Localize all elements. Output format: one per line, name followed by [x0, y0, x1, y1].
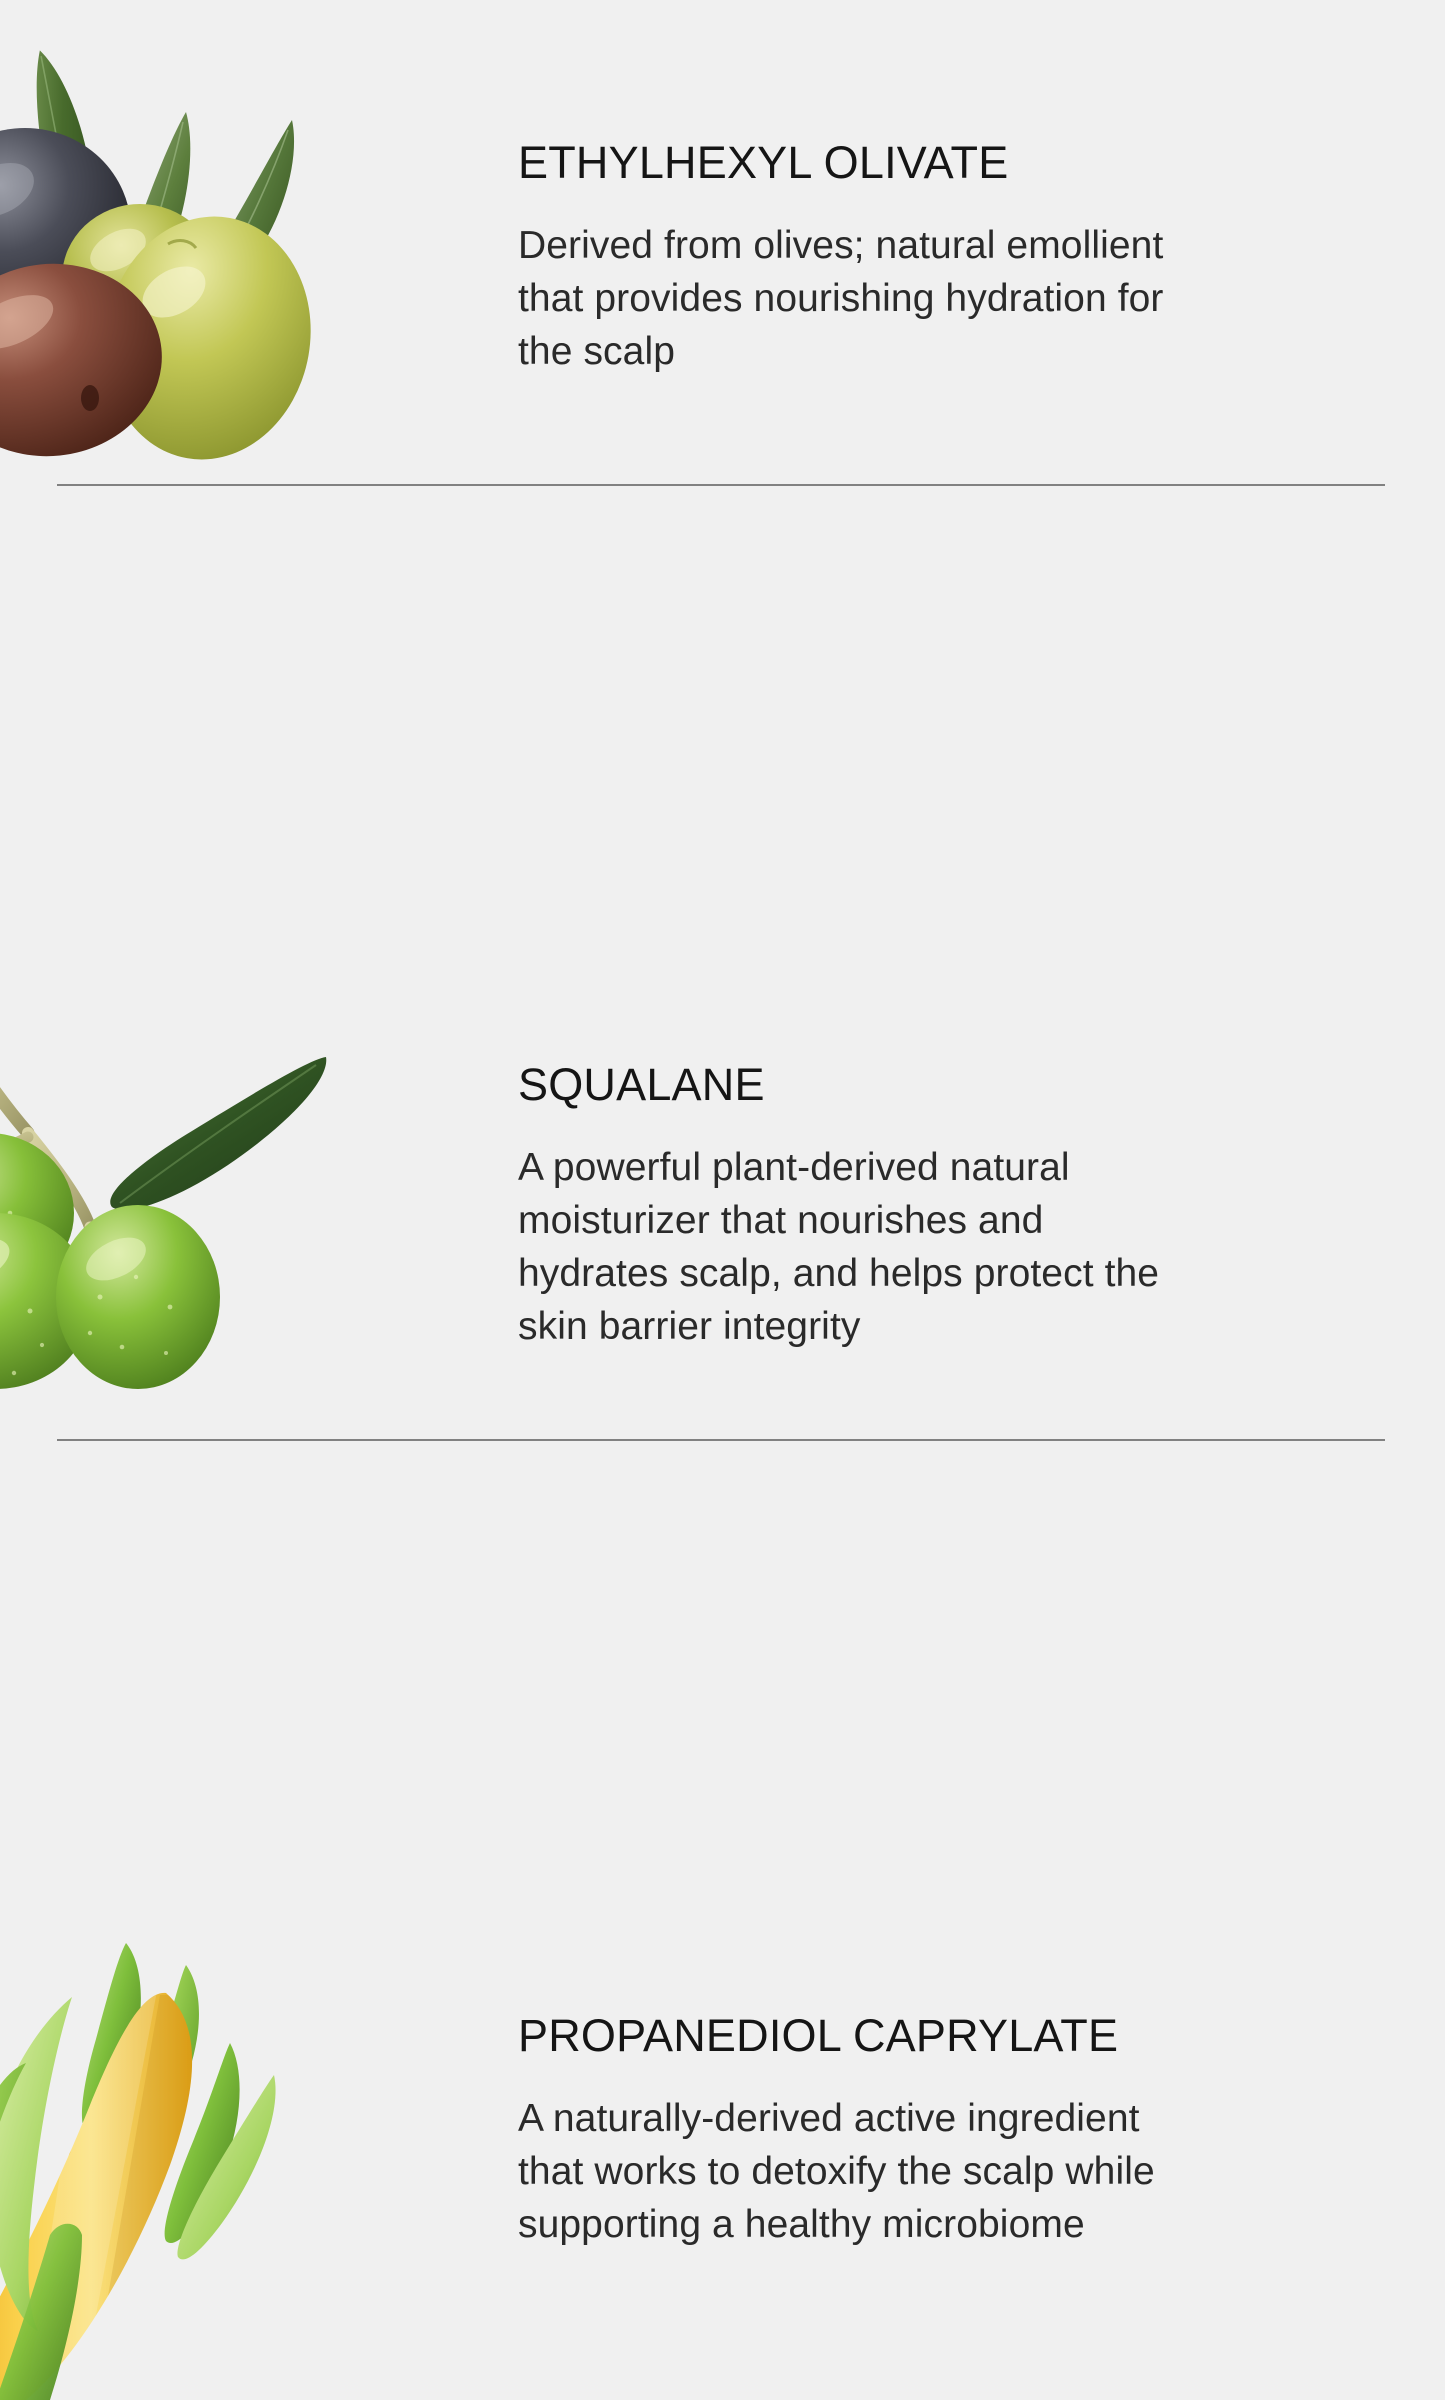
ingredient-section-ethylhexyl-olivate: ETHYLHEXYL OLIVATE Derived from olives; …: [0, 0, 1445, 486]
ingredient-text-block-1: ETHYLHEXYL OLIVATE Derived from olives; …: [518, 140, 1218, 378]
ingredient-heading-3: PROPANEDIOL CAPRYLATE: [518, 2013, 1218, 2058]
ingredient-description-1: Derived from olives; natural emollient t…: [518, 219, 1198, 378]
ingredient-section-propanediol-caprylate: PROPANEDIOL CAPRYLATE A naturally-derive…: [0, 955, 1445, 1445]
ingredient-section-squalane: SQUALANE A powerful plant-derived natura…: [0, 486, 1445, 955]
ingredient-text-block-3: PROPANEDIOL CAPRYLATE A naturally-derive…: [518, 2013, 1218, 2251]
ingredient-description-3: A naturally-derived active ingredient th…: [518, 2092, 1178, 2251]
ingredient-benefits-page: ETHYLHEXYL OLIVATE Derived from olives; …: [0, 0, 1445, 1445]
ingredient-heading-1: ETHYLHEXYL OLIVATE: [518, 140, 1218, 185]
mixed-olives-with-leaves-image: [0, 30, 320, 460]
corn-cob-with-husk-image: [0, 1935, 330, 2400]
